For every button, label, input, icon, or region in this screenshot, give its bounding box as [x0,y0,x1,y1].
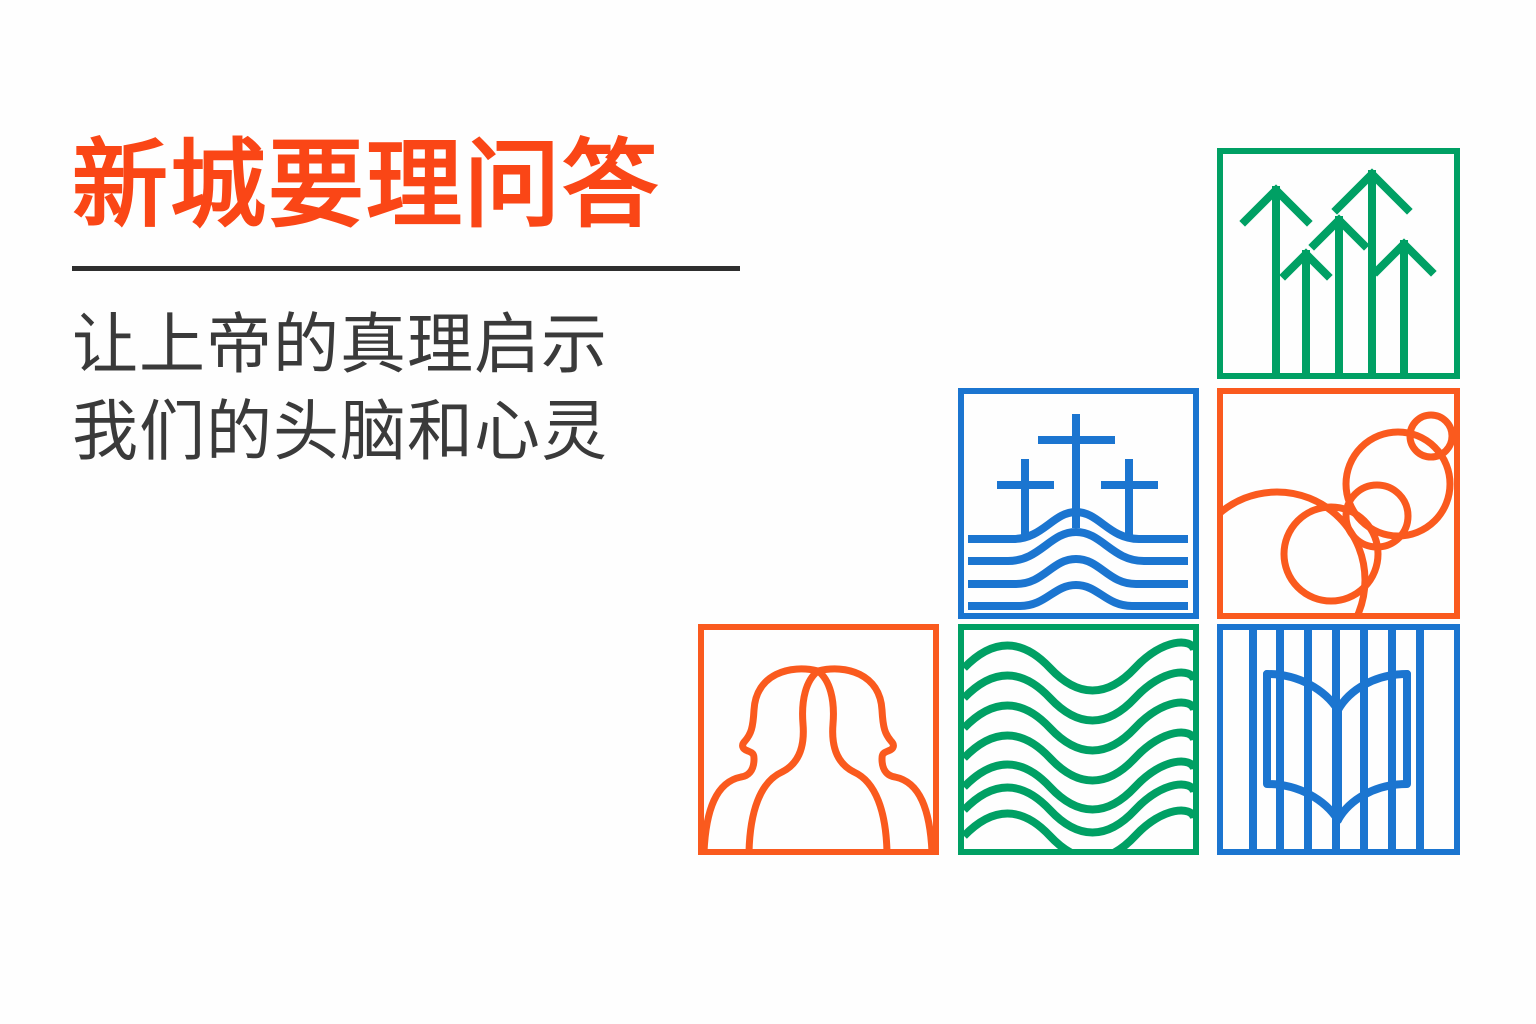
circles-creation-icon [1217,388,1460,619]
icon-mosaic [690,140,1480,870]
subtitle-line-1: 让上帝的真理启示 [72,301,772,389]
subtitle-line-2: 我们的头脑和心灵 [72,388,772,476]
water-waves-icon [958,624,1199,855]
title-block: 新城要理问答 让上帝的真理启示 我们的头脑和心灵 [72,132,772,476]
page-title: 新城要理问答 [72,132,772,240]
page-subtitle: 让上帝的真理启示 我们的头脑和心灵 [72,301,772,477]
three-crosses-icon [958,388,1199,619]
growth-arrows-icon [1217,148,1460,379]
two-profiles-icon [698,624,939,855]
open-book-icon [1217,624,1460,855]
title-divider [72,266,740,271]
